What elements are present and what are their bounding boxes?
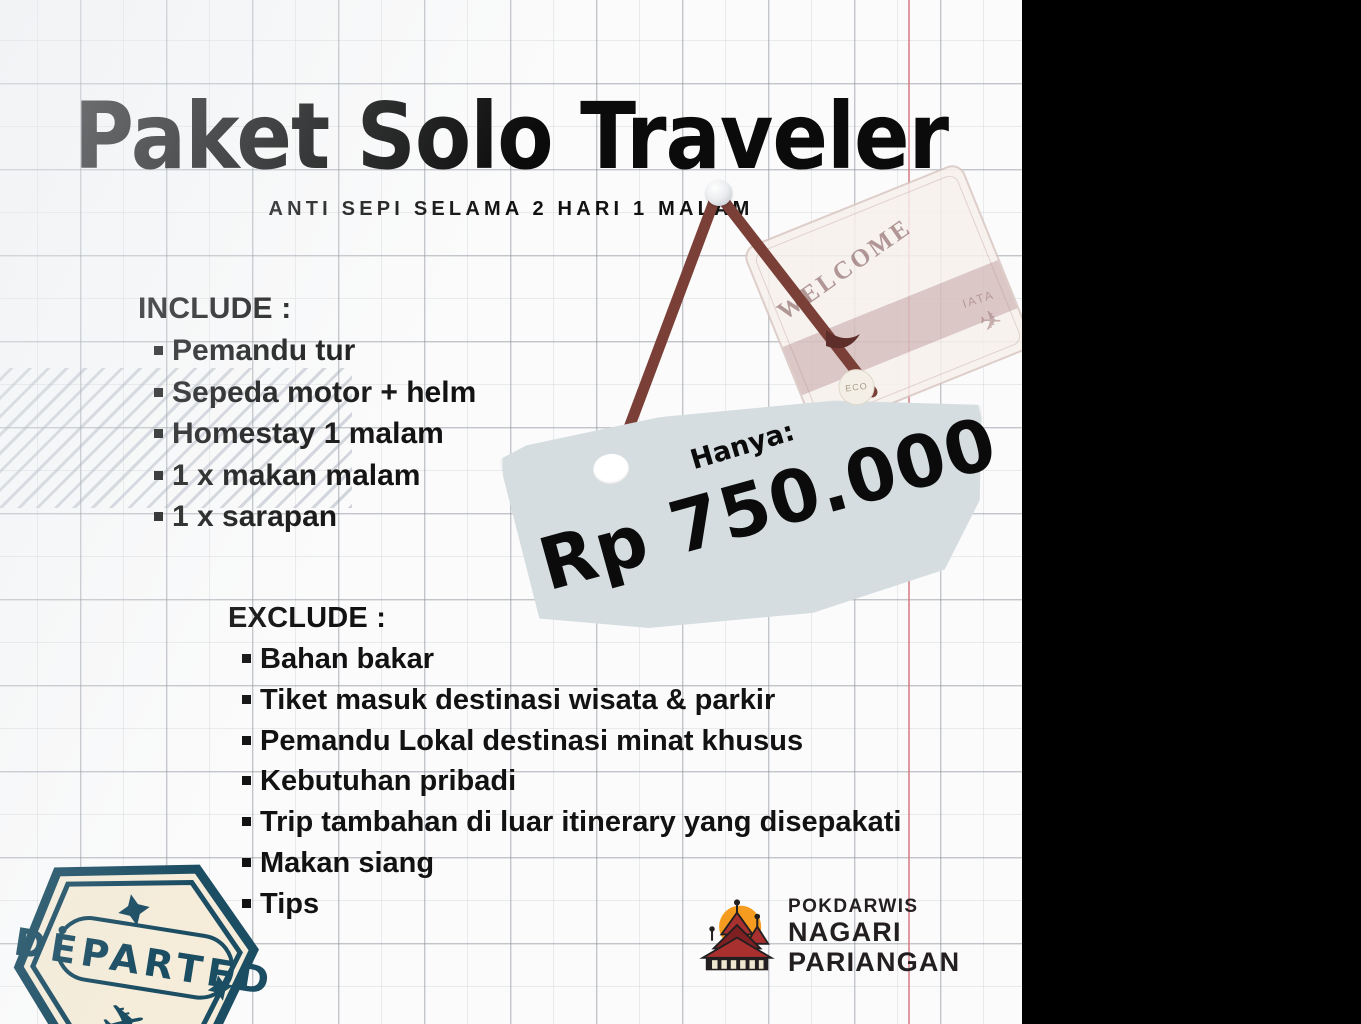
list-item: Sepeda motor + helm — [154, 372, 476, 414]
exclude-item-label: Tiket masuk destinasi wisata & parkir — [260, 680, 775, 721]
include-list: Pemandu tur Sepeda motor + helm Homestay… — [138, 330, 476, 538]
logo-line-1: POKDARWIS — [788, 897, 960, 916]
include-heading: INCLUDE : — [138, 292, 476, 326]
pokdarwis-logo: POKDARWIS NAGARI PARIANGAN — [698, 890, 968, 982]
page-title: Paket Solo Traveler — [0, 84, 1022, 190]
list-item: Tiket masuk destinasi wisata & parkir — [242, 680, 901, 721]
grid-paper-sheet: Paket Solo Traveler ANTI SEPI SELAMA 2 H… — [0, 0, 1022, 1024]
bullet-square-icon — [154, 346, 163, 355]
exclude-item-label: Makan siang — [260, 843, 434, 884]
list-item: Bahan bakar — [242, 639, 901, 680]
bullet-square-icon — [242, 817, 251, 826]
letterbox-backdrop — [1022, 0, 1361, 1024]
list-item: Pemandu Lokal destinasi minat khusus — [242, 721, 901, 762]
price-tag: ECO Hanya: Rp 750.000 — [496, 375, 1006, 651]
exclude-item-label: Trip tambahan di luar itinerary yang dis… — [260, 802, 901, 843]
poster-canvas: Paket Solo Traveler ANTI SEPI SELAMA 2 H… — [0, 0, 1361, 1024]
bullet-square-icon — [242, 695, 251, 704]
logo-wordmark: POKDARWIS NAGARI PARIANGAN — [788, 897, 960, 976]
list-item: Trip tambahan di luar itinerary yang dis… — [242, 802, 901, 843]
bullet-square-icon — [154, 429, 163, 438]
list-item: 1 x makan malam — [154, 455, 476, 497]
bullet-square-icon — [154, 512, 163, 521]
include-section: INCLUDE : Pemandu tur Sepeda motor + hel… — [138, 292, 476, 538]
departed-stamp: DEPARTED ✈ — [0, 830, 283, 1024]
include-item-label: Sepeda motor + helm — [172, 372, 476, 414]
bullet-square-icon — [242, 654, 251, 663]
rumah-gadang-icon — [698, 896, 776, 976]
bullet-square-icon — [242, 736, 251, 745]
include-item-label: 1 x sarapan — [172, 496, 337, 538]
exclude-item-label: Bahan bakar — [260, 639, 434, 680]
exclude-item-label: Pemandu Lokal destinasi minat khusus — [260, 721, 803, 762]
include-item-label: Homestay 1 malam — [172, 413, 444, 455]
bullet-square-icon — [242, 776, 251, 785]
include-item-label: Pemandu tur — [172, 330, 355, 372]
list-item: Makan siang — [242, 843, 901, 884]
push-pin-icon — [706, 180, 732, 206]
list-item: Kebutuhan pribadi — [242, 761, 901, 802]
bullet-square-icon — [154, 388, 163, 397]
exclude-list: Bahan bakar Tiket masuk destinasi wisata… — [228, 639, 901, 925]
exclude-item-label: Kebutuhan pribadi — [260, 761, 516, 802]
logo-line-3: PARIANGAN — [788, 949, 960, 976]
list-item: 1 x sarapan — [154, 496, 476, 538]
bullet-square-icon — [154, 471, 163, 480]
list-item: Homestay 1 malam — [154, 413, 476, 455]
include-item-label: 1 x makan malam — [172, 455, 420, 497]
exclude-section: EXCLUDE : Bahan bakar Tiket masuk destin… — [228, 602, 901, 925]
logo-line-2: NAGARI — [788, 919, 960, 946]
airplane-icon: ✈ — [979, 306, 1003, 338]
list-item: Pemandu tur — [154, 330, 476, 372]
exclude-item-label: Tips — [260, 884, 319, 925]
